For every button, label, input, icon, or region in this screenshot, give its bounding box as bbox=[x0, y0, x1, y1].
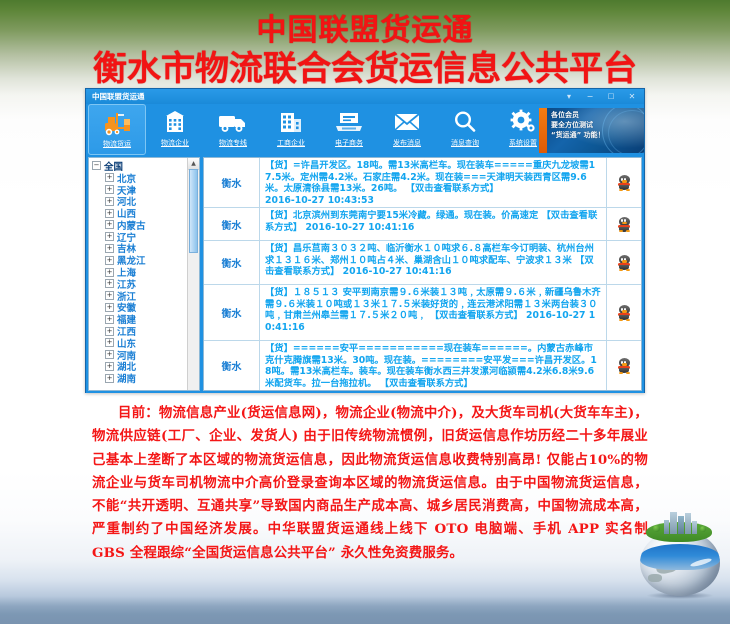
expand-icon[interactable]: + bbox=[105, 209, 114, 218]
expand-icon[interactable]: + bbox=[105, 327, 114, 336]
toolbar-label: 电子商务 bbox=[335, 138, 363, 148]
tree-node-zhejiang[interactable]: + 浙江 bbox=[92, 290, 199, 302]
row-message: 【货】=许昌开发区。18吨。需13米高栏车。现在装车=====重庆九龙坡需17.… bbox=[260, 158, 606, 207]
table-row[interactable]: 衡水 【货】昌乐莒南３０３２吨、临沂衡水１０吨求６.８高栏车今订明装、杭州台州求… bbox=[204, 241, 641, 285]
tree-node-tianjin[interactable]: + 天津 bbox=[92, 184, 199, 196]
table-row[interactable]: 衡水 【货】=许昌开发区。18吨。需13米高栏车。现在装车=====重庆九龙坡需… bbox=[204, 158, 641, 208]
banner-wave-decoration-2 bbox=[608, 110, 644, 153]
banner-content: 各位会员 要全方位测试 “货运通” 功能！ bbox=[547, 108, 644, 153]
qq-icon[interactable] bbox=[618, 217, 631, 232]
table-row[interactable]: 衡水 【货】北京滨州到东莞南宁要15米冷藏。绿通。现在装。价高速定 【双击查看联… bbox=[204, 208, 641, 241]
row-timestamp: 2016-10-27 10:41:16 bbox=[305, 222, 414, 233]
expand-icon[interactable]: + bbox=[105, 362, 114, 371]
row-city: 衡水 bbox=[204, 285, 260, 340]
tree-node-hunan[interactable]: + 湖南 bbox=[92, 372, 199, 384]
globe-ocean bbox=[640, 544, 720, 570]
city-building bbox=[685, 513, 691, 534]
forklift-icon bbox=[102, 108, 132, 138]
qq-icon[interactable] bbox=[618, 305, 631, 320]
office-icon bbox=[277, 107, 305, 137]
tree-node-national[interactable]: − 全国 bbox=[92, 160, 199, 172]
tree-node-label: 湖南 bbox=[117, 371, 136, 385]
globe-with-city-icon bbox=[640, 512, 720, 597]
city-tree bbox=[653, 525, 660, 532]
toolbar-label: 系统设置 bbox=[509, 138, 537, 148]
freight-list-panel: 衡水 【货】=许昌开发区。18吨。需13米高栏车。现在装车=====重庆九龙坡需… bbox=[203, 157, 642, 391]
chevron-down-icon[interactable]: ▾ bbox=[559, 90, 579, 103]
table-row[interactable]: 衡水 【货】１８５１３ 安平到南京需９.６米装１３吨﹐太原需９.６米﹐新疆乌鲁木… bbox=[204, 285, 641, 341]
expand-icon[interactable]: + bbox=[105, 338, 114, 347]
row-message-text: 【货】=许昌开发区。18吨。需13米高栏车。现在装车=====重庆九龙坡需17.… bbox=[265, 160, 595, 194]
row-message: 【货】======安平===========现在装车======。内蒙古赤峰市克… bbox=[260, 341, 606, 390]
main-toolbar: 物流货运 物流企业 bbox=[86, 104, 644, 157]
expand-icon[interactable]: + bbox=[105, 350, 114, 359]
expand-icon[interactable]: + bbox=[105, 291, 114, 300]
close-icon[interactable]: ✕ bbox=[622, 90, 642, 103]
toolbar-label: 物流专线 bbox=[219, 138, 247, 148]
row-message: 【货】１８５１３ 安平到南京需９.６米装１３吨﹐太原需９.６米﹐新疆乌鲁木齐需９… bbox=[260, 285, 606, 340]
expand-icon[interactable]: + bbox=[105, 173, 114, 182]
tree-node-fujian[interactable]: + 福建 bbox=[92, 313, 199, 325]
row-qq-cell[interactable] bbox=[606, 158, 641, 207]
page-headline: 中国联盟货运通 衡水市物流联合会货运信息公共平台 bbox=[0, 0, 730, 88]
expand-icon[interactable]: + bbox=[105, 197, 114, 206]
window-body: − 全国 + 北京 + 天津 + 河北 + 山西 bbox=[86, 157, 644, 393]
truck-icon bbox=[218, 107, 248, 137]
tree-node-henan[interactable]: + 河南 bbox=[92, 349, 199, 361]
tree-node-jiangsu[interactable]: + 江苏 bbox=[92, 278, 199, 290]
gear-icon bbox=[509, 107, 537, 137]
expand-icon[interactable]: + bbox=[105, 279, 114, 288]
city-building bbox=[664, 520, 669, 534]
scrollbar-thumb[interactable] bbox=[189, 169, 198, 253]
expand-icon[interactable]: + bbox=[105, 220, 114, 229]
building-icon bbox=[162, 107, 188, 137]
window-controls: ▾ − □ ✕ bbox=[559, 90, 642, 103]
toolbar-item-ecommerce[interactable]: 电子商务 bbox=[320, 104, 378, 155]
description-paragraph: 目前：物流信息产业(货运信息网)，物流企业(物流中介)，及大货车司机(大货车车主… bbox=[92, 402, 648, 565]
toolbar-label: 物流货运 bbox=[103, 139, 131, 149]
row-message: 【货】昌乐莒南３０３２吨、临沂衡水１０吨求６.８高栏车今订明装、杭州台州求１３１… bbox=[260, 241, 606, 284]
tree-node-shandong[interactable]: + 山东 bbox=[92, 337, 199, 349]
toolbar-label: 物流企业 bbox=[161, 138, 189, 148]
promo-banner[interactable]: 各位会员 要全方位测试 “货运通” 功能！ bbox=[539, 108, 644, 153]
tree-node-heilongjiang[interactable]: + 黑龙江 bbox=[92, 254, 199, 266]
expand-icon[interactable]: + bbox=[105, 185, 114, 194]
row-city: 衡水 bbox=[204, 158, 260, 207]
window-titlebar[interactable]: 中国联盟货运通 ▾ − □ ✕ bbox=[86, 89, 644, 104]
headline-line-1: 中国联盟货运通 bbox=[0, 14, 730, 48]
row-qq-cell[interactable] bbox=[606, 208, 641, 240]
qq-icon[interactable] bbox=[618, 358, 631, 373]
toolbar-label: 发布消息 bbox=[393, 138, 421, 148]
expand-icon[interactable]: + bbox=[105, 256, 114, 265]
table-row[interactable]: 衡水 【货】======安平===========现在装车======。内蒙古赤… bbox=[204, 341, 641, 391]
application-window: 中国联盟货运通 ▾ − □ ✕ bbox=[85, 88, 645, 393]
toolbar-item-message-query[interactable]: 消息查询 bbox=[436, 104, 494, 155]
tree-node-hubei[interactable]: + 湖北 bbox=[92, 361, 199, 373]
headline-line-2: 衡水市物流联合会货运信息公共平台 bbox=[0, 50, 730, 88]
toolbar-item-industrial-commercial[interactable]: 工商企业 bbox=[262, 104, 320, 155]
toolbar-item-logistics-freight[interactable]: 物流货运 bbox=[88, 104, 146, 155]
maximize-icon[interactable]: □ bbox=[601, 90, 621, 103]
city-tree bbox=[700, 526, 706, 532]
collapse-icon[interactable]: − bbox=[92, 161, 101, 170]
city-building bbox=[678, 516, 684, 534]
expand-icon[interactable]: + bbox=[105, 374, 114, 383]
toolbar-item-publish-message[interactable]: 发布消息 bbox=[378, 104, 436, 155]
region-tree-panel: − 全国 + 北京 + 天津 + 河北 + 山西 bbox=[88, 157, 200, 391]
row-city: 衡水 bbox=[204, 208, 260, 240]
row-message-text: 【货】======安平===========现在装车======。内蒙古赤峰市克… bbox=[265, 343, 597, 389]
tree-node-jiangxi[interactable]: + 江西 bbox=[92, 325, 199, 337]
expand-icon[interactable]: + bbox=[105, 268, 114, 277]
tree-node-liaoning[interactable]: + 辽宁 bbox=[92, 231, 199, 243]
tree-node-inner-mongolia[interactable]: + 内蒙古 bbox=[92, 219, 199, 231]
region-tree: − 全国 + 北京 + 天津 + 河北 + 山西 bbox=[89, 158, 199, 384]
tree-node-shanghai[interactable]: + 上海 bbox=[92, 266, 199, 278]
search-icon bbox=[452, 107, 478, 137]
row-qq-cell[interactable] bbox=[606, 341, 641, 390]
row-message: 【货】北京滨州到东莞南宁要15米冷藏。绿通。现在装。价高速定 【双击查看联系方式… bbox=[260, 208, 606, 240]
row-qq-cell[interactable] bbox=[606, 285, 641, 340]
toolbar-label: 消息查询 bbox=[451, 138, 479, 148]
row-city: 衡水 bbox=[204, 341, 260, 390]
city-building bbox=[692, 521, 697, 534]
toolbar-label: 工商企业 bbox=[277, 138, 305, 148]
minimize-icon[interactable]: − bbox=[580, 90, 600, 103]
globe-landmass bbox=[648, 574, 662, 582]
tree-node-beijing[interactable]: + 北京 bbox=[92, 172, 199, 184]
ecommerce-icon bbox=[334, 107, 364, 137]
tree-node-hebei[interactable]: + 河北 bbox=[92, 195, 199, 207]
qq-icon[interactable] bbox=[618, 175, 631, 190]
window-title: 中国联盟货运通 bbox=[92, 91, 145, 102]
tree-node-anhui[interactable]: + 安徽 bbox=[92, 302, 199, 314]
tree-scrollbar[interactable]: ▲ bbox=[187, 158, 199, 390]
envelope-icon bbox=[392, 107, 422, 137]
expand-icon[interactable]: + bbox=[105, 303, 114, 312]
row-qq-cell[interactable] bbox=[606, 241, 641, 284]
row-timestamp: 2016-10-27 10:41:16 bbox=[343, 266, 452, 277]
city-building bbox=[670, 512, 677, 534]
banner-accent-bar bbox=[539, 108, 547, 153]
expand-icon[interactable]: + bbox=[105, 244, 114, 253]
expand-icon[interactable]: + bbox=[105, 232, 114, 241]
toolbar-item-logistics-enterprise[interactable]: 物流企业 bbox=[146, 104, 204, 155]
qq-icon[interactable] bbox=[618, 255, 631, 270]
toolbar-item-logistics-line[interactable]: 物流专线 bbox=[204, 104, 262, 155]
expand-icon[interactable]: + bbox=[105, 315, 114, 324]
row-timestamp: 2016-10-27 10:43:53 bbox=[265, 195, 374, 206]
row-city: 衡水 bbox=[204, 241, 260, 284]
